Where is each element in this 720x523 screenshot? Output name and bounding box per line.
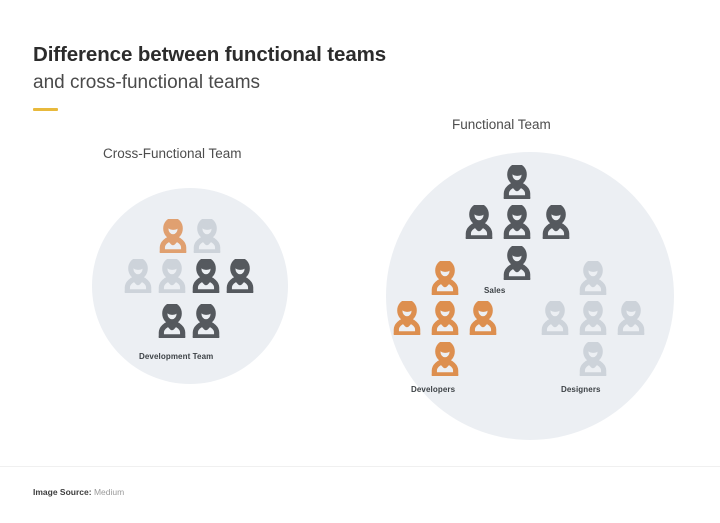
- development-team-caption: Development Team: [139, 352, 213, 361]
- designers-person-4-icon: [616, 301, 646, 335]
- footer-divider: [0, 466, 720, 467]
- cross-functional-team-title: Cross-Functional Team: [103, 146, 242, 161]
- cross-person-3-icon: [123, 259, 153, 293]
- sales-person-1-icon: [502, 165, 532, 199]
- image-source-credit: Image Source: Medium: [33, 487, 124, 497]
- designers-person-5-icon: [578, 342, 608, 376]
- developers-person-5-icon: [430, 342, 460, 376]
- image-source-value: Medium: [94, 487, 124, 497]
- developers-person-1-icon: [430, 261, 460, 295]
- cross-person-1-icon: [158, 219, 188, 253]
- designers-caption: Designers: [561, 385, 601, 394]
- developers-person-4-icon: [468, 301, 498, 335]
- cross-person-2-icon: [192, 219, 222, 253]
- designers-person-2-icon: [540, 301, 570, 335]
- cross-person-8-icon: [191, 304, 221, 338]
- designers-person-3-icon: [578, 301, 608, 335]
- image-source-label: Image Source:: [33, 487, 92, 497]
- sales-caption: Sales: [484, 286, 505, 295]
- functional-team-title: Functional Team: [452, 117, 551, 132]
- developers-caption: Developers: [411, 385, 455, 394]
- cross-person-6-icon: [225, 259, 255, 293]
- sales-person-2-icon: [464, 205, 494, 239]
- cross-person-5-icon: [191, 259, 221, 293]
- sales-person-4-icon: [541, 205, 571, 239]
- designers-person-1-icon: [578, 261, 608, 295]
- developers-person-2-icon: [392, 301, 422, 335]
- sales-person-3-icon: [502, 205, 532, 239]
- sales-person-5-icon: [502, 246, 532, 280]
- developers-person-3-icon: [430, 301, 460, 335]
- cross-person-4-icon: [157, 259, 187, 293]
- diagram-stage: Cross-Functional Team Functional Team De…: [0, 0, 720, 460]
- cross-person-7-icon: [157, 304, 187, 338]
